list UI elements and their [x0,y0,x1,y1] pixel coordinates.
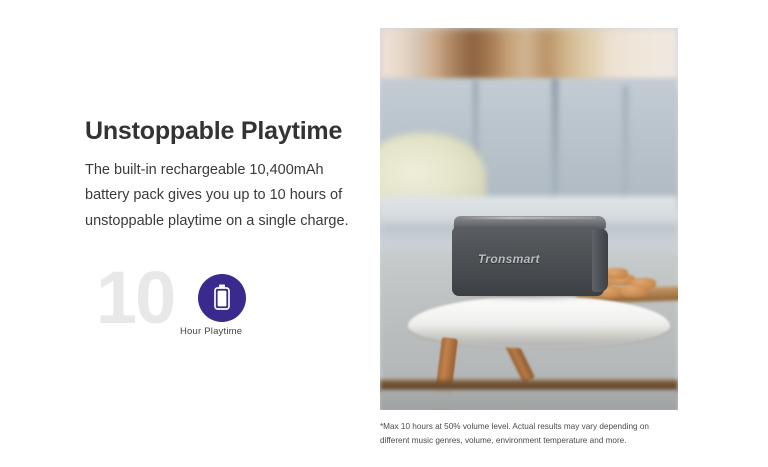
battery-icon [198,274,246,322]
bluetooth-speaker: Tronsmart [452,216,610,298]
speaker-side-panel [592,228,608,292]
product-photo: Tronsmart [380,28,678,410]
speaker-highlight [464,217,596,219]
body-copy: The built-in rechargeable 10,400mAh batt… [85,158,360,235]
table-leg [626,338,638,378]
biscuit [620,285,648,297]
playtime-badge: 10 Hour Playtime [96,262,296,357]
playtime-caption: Hour Playtime [180,326,242,337]
copy-panel: Unstoppable Playtime The built-in rechar… [85,118,360,235]
speaker-top [454,216,606,229]
sofa-seam [552,78,558,208]
sofa-seam [623,86,628,208]
playtime-hours-number: 10 [96,262,174,333]
floor-foreground [380,390,678,410]
page-title: Unstoppable Playtime [85,118,360,146]
speaker-brand-label: Tronsmart [478,252,540,266]
footnote-disclaimer: *Max 10 hours at 50% volume level. Actua… [380,420,680,448]
product-feature-banner: Unstoppable Playtime The built-in rechar… [0,0,768,467]
